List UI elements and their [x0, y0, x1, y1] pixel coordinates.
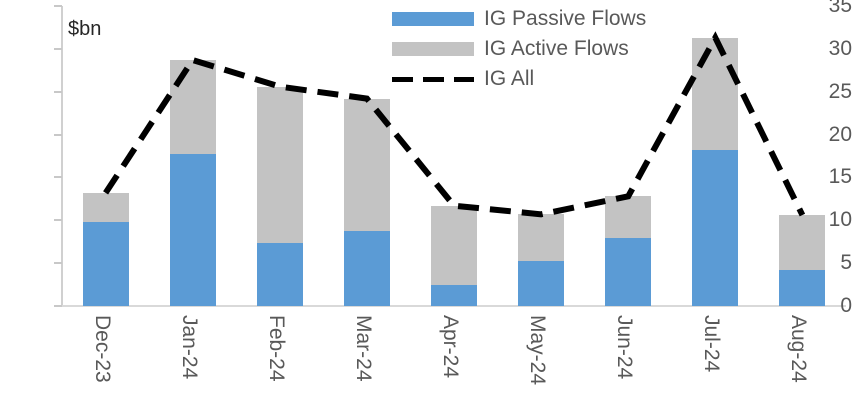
bar-segment-passive[interactable] — [692, 150, 738, 306]
legend-swatch-passive — [392, 12, 474, 26]
bar-segment-active[interactable] — [170, 60, 216, 154]
y-axis-tick — [54, 5, 62, 7]
y-axis-tick — [54, 176, 62, 178]
legend-swatch-line — [392, 72, 474, 86]
y-axis-tick — [54, 305, 62, 307]
chart-legend: IG Passive FlowsIG Active FlowsIG All — [392, 4, 672, 94]
bar-segment-passive[interactable] — [431, 285, 477, 306]
bar-group[interactable] — [779, 6, 825, 306]
bar-segment-active[interactable] — [605, 196, 651, 238]
legend-label: IG Active Flows — [484, 38, 629, 60]
bar-segment-active[interactable] — [344, 99, 390, 231]
x-axis-tick-label: May-24 — [525, 315, 549, 385]
bar-segment-passive[interactable] — [605, 238, 651, 306]
y-axis-tick — [54, 262, 62, 264]
bar-segment-passive[interactable] — [344, 231, 390, 306]
bar-segment-active[interactable] — [692, 38, 738, 150]
bar-group[interactable] — [170, 6, 216, 306]
bar-segment-passive[interactable] — [83, 222, 129, 306]
x-axis-tick-label: Dec-23 — [90, 315, 114, 383]
x-axis-tick-label: Jul-24 — [699, 315, 723, 372]
bar-segment-active[interactable] — [257, 87, 303, 243]
y-axis-tick — [54, 134, 62, 136]
bar-segment-passive[interactable] — [170, 154, 216, 306]
legend-swatch-active — [392, 42, 474, 56]
y-axis-tick — [54, 48, 62, 50]
bar-group[interactable] — [257, 6, 303, 306]
bar-segment-passive[interactable] — [779, 270, 825, 306]
x-axis-tick-label: Apr-24 — [438, 315, 462, 378]
x-axis-tick-label: Aug-24 — [786, 315, 810, 383]
chart-container: $bn 35302520151050 Dec-23Jan-24Feb-24Mar… — [0, 0, 852, 417]
bar-group[interactable] — [692, 6, 738, 306]
legend-label: IG Passive Flows — [484, 8, 646, 30]
bar-group[interactable] — [83, 6, 129, 306]
x-axis-tick-label: Mar-24 — [351, 315, 375, 382]
bar-segment-active[interactable] — [518, 214, 564, 260]
x-axis-tick-label: Feb-24 — [264, 315, 288, 382]
legend-item[interactable]: IG Active Flows — [392, 34, 672, 64]
bar-segment-passive[interactable] — [257, 243, 303, 306]
y-axis-tick — [54, 91, 62, 93]
legend-item[interactable]: IG All — [392, 64, 672, 94]
bar-segment-active[interactable] — [779, 215, 825, 270]
legend-label: IG All — [484, 68, 534, 90]
x-axis-tick-label: Jun-24 — [612, 315, 636, 379]
x-axis-tick-label: Jan-24 — [177, 315, 201, 379]
bar-segment-active[interactable] — [431, 206, 477, 286]
bar-segment-passive[interactable] — [518, 261, 564, 306]
y-axis-tick — [54, 219, 62, 221]
bar-segment-active[interactable] — [83, 193, 129, 222]
legend-item[interactable]: IG Passive Flows — [392, 4, 672, 34]
bar-group[interactable] — [344, 6, 390, 306]
